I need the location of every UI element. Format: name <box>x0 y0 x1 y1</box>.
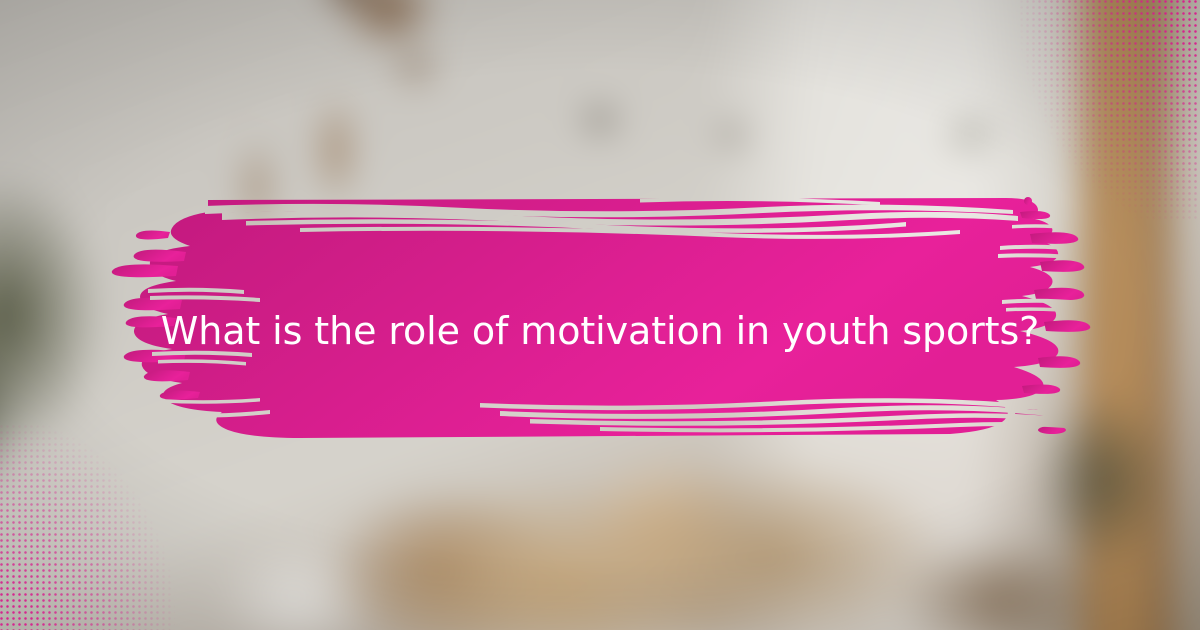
social-card: What is the role of motivation in youth … <box>0 0 1200 630</box>
page-title: What is the role of motivation in youth … <box>0 305 1200 357</box>
